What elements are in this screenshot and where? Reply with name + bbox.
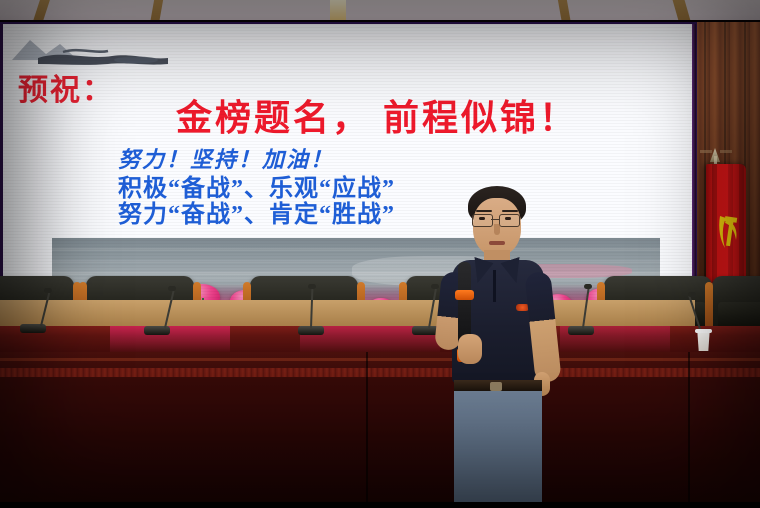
paper-cup-rim (695, 329, 712, 333)
speaker-hand-holding-mic (458, 334, 482, 364)
conference-desk-front (0, 352, 760, 508)
frame-bottom-edge (0, 502, 760, 508)
desk-back-panel (0, 300, 695, 326)
hammer-sickle-emblem-icon (716, 210, 742, 252)
shirt-placket (493, 270, 496, 302)
desk-microphone-head (168, 286, 176, 291)
speaker-person (430, 186, 570, 508)
slide-blue-line-3: 努力“奋战”、肯定“胜战” (118, 194, 395, 229)
ink-wash-mountain-icon (8, 30, 188, 74)
desk-microphone-head (584, 284, 592, 289)
conference-desk-top (0, 326, 760, 354)
slide-red-intro: 预祝： (18, 76, 114, 106)
desk-microphone-head (688, 292, 696, 297)
desk-microphone-head (44, 288, 52, 293)
slide-red-headline: 金榜题名， 前程似锦！ (176, 100, 578, 136)
microphone-ring (455, 290, 474, 300)
desk-microphone-head (308, 284, 316, 289)
belt-buckle (490, 382, 502, 391)
speaker-jeans (454, 391, 542, 508)
photo-scene: 预祝： 金榜题名， 前程似锦！ 努力！坚持！加油！ 积极“备战”、乐观“应战” … (0, 0, 760, 508)
